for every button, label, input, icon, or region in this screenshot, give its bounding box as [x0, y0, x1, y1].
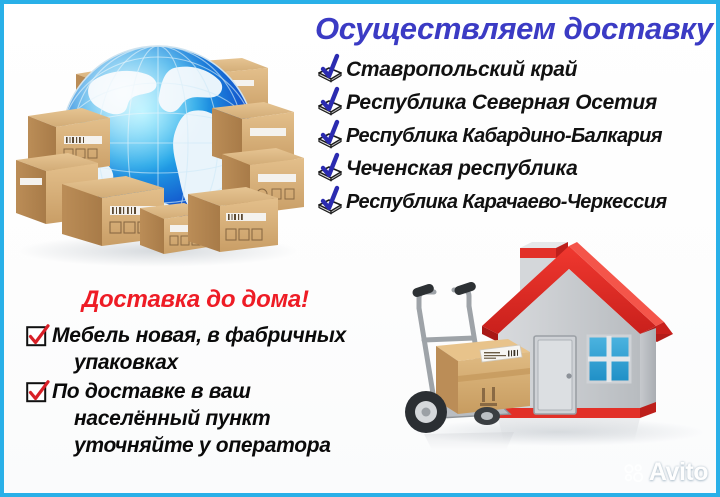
house-with-hand-truck-image — [384, 236, 714, 484]
blue-check-box-icon — [315, 121, 345, 151]
term-line-2: упаковках — [74, 349, 346, 376]
list-item-label: Республика Карачаево-Черкессия — [346, 191, 667, 213]
term-line-2: населённый пункт — [74, 405, 331, 432]
list-item: Ставропольский край — [315, 53, 720, 86]
blue-check-box-icon — [315, 154, 345, 184]
watermark-label: Avito — [649, 460, 708, 485]
term-line-3: уточняйте у оператора — [74, 432, 331, 459]
globe-with-boxes-image — [6, 8, 306, 280]
list-item: Республика Кабардино-Балкария — [315, 119, 720, 152]
list-item: Республика Северная Осетия — [315, 86, 720, 119]
delivery-terms-list: Мебель новая, в фабричных упаковках По д… — [26, 322, 396, 461]
list-item: Республика Карачаево-Черкессия — [315, 185, 720, 218]
page-title: Осуществляем доставку — [315, 12, 715, 46]
advertisement-banner: Осуществляем доставку Ставропольский кра… — [0, 0, 720, 497]
list-item-label: Ставропольский край — [346, 59, 577, 81]
list-item: Мебель новая, в фабричных упаковках — [26, 322, 396, 376]
red-checkmark-checkbox-icon — [26, 380, 50, 404]
avito-logo-icon — [623, 462, 645, 484]
blue-check-box-icon — [315, 187, 345, 217]
list-item-label: Мебель новая, в фабричных упаковках — [52, 322, 346, 376]
term-line-1: По доставке в ваш — [52, 378, 331, 405]
red-checkmark-checkbox-icon — [26, 324, 50, 348]
blue-check-box-icon — [315, 88, 345, 118]
list-item-label: Республика Кабардино-Балкария — [346, 125, 662, 147]
list-item: По доставке в ваш населённый пункт уточн… — [26, 378, 396, 459]
watermark: Avito — [623, 460, 708, 485]
blue-check-box-icon — [315, 55, 345, 85]
list-item-label: Чеченская республика — [346, 158, 578, 180]
term-line-1: Мебель новая, в фабричных — [52, 322, 346, 349]
list-item-label: По доставке в ваш населённый пункт уточн… — [52, 378, 331, 459]
delivery-regions-list: Ставропольский край Республика Северная … — [315, 53, 720, 218]
list-item-label: Республика Северная Осетия — [346, 92, 657, 114]
list-item: Чеченская республика — [315, 152, 720, 185]
section-subtitle: Доставка до дома! — [82, 287, 309, 313]
